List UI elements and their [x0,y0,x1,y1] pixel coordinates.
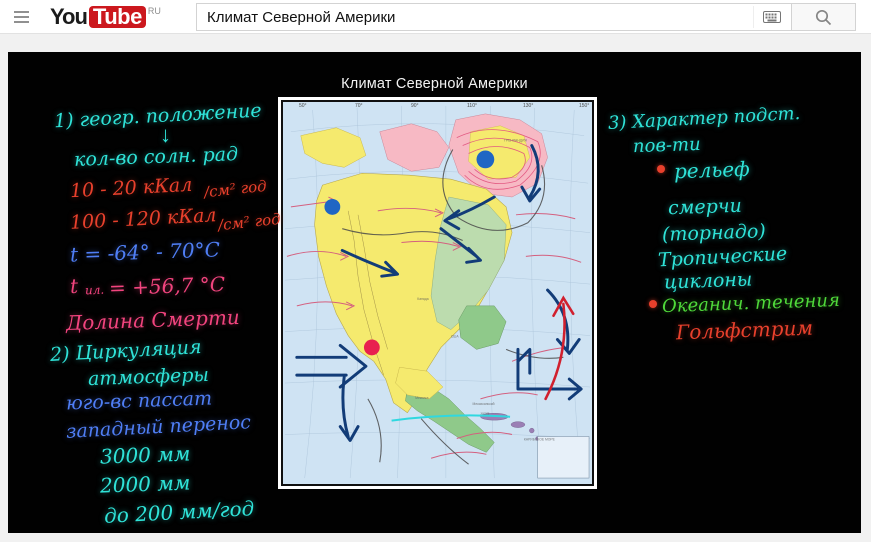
handwritten-note-left: t [70,276,79,297]
handwritten-note-right: смерчи [668,197,743,220]
keyboard-icon[interactable] [753,6,789,28]
handwritten-note-left: кол-во солн. рад [74,145,239,171]
handwritten-note-left: 10 - 20 кКал [70,176,193,202]
north-america-climate-map[interactable]: Канада США Мексика Мексиканский залив КА… [281,100,594,486]
youtube-logo[interactable]: You Tube RU [50,6,161,28]
search-button[interactable] [792,3,856,31]
search-area [196,3,856,31]
handwritten-note-left: Долина Смерти [66,307,240,334]
logo-region-text: RU [148,6,161,17]
search-input-wrapper[interactable] [196,3,792,31]
hamburger-icon[interactable] [4,0,38,34]
hamburger-bar [14,21,29,23]
keyboard-glyph [763,11,781,23]
toponym: Канада [417,297,428,301]
handwritten-note-left: 1) геогр. положение [54,102,262,133]
map-graphic: Канада США Мексика Мексиканский залив КА… [283,102,592,484]
video-title: Климат Северной Америки [8,76,861,92]
handwritten-note-left: 2) Циркуляция [50,338,202,366]
toponym: залив [480,412,489,416]
toponym: Мексиканский [473,402,495,406]
search-icon [815,9,832,26]
video-player-stage[interactable]: Климат Северной Америки 1) геогр. положе… [8,52,861,533]
browser-header: You Tube RU [0,0,871,34]
handwritten-note-left: 2000 мм [100,472,191,496]
handwritten-note-right: Океанич. течения [662,292,840,317]
handwritten-note-left: /см² год [203,179,267,201]
blue-dot-alaska[interactable] [324,199,340,215]
handwritten-note-left: юго-вс пассат [66,389,213,414]
red-dot-death-valley[interactable] [364,340,380,356]
map-degree-label: 110° [467,103,477,109]
logo-you-text: You [50,6,87,28]
handwritten-note-left: t = -64° - 70°C [70,239,221,265]
handwritten-note-right: 3) Характер подст. [608,105,801,134]
blue-dot-greenland[interactable] [476,150,494,168]
handwritten-note-left: ил. [85,284,105,297]
map-degree-label: 50° [299,103,307,109]
note-bullet-dot [657,165,665,173]
handwritten-note-right: (торнадо) [662,222,766,246]
handwritten-note-left: до 200 мм/год [104,498,255,527]
hamburger-bar [14,16,29,18]
handwritten-note-left: 100 - 120 кКал [70,206,217,234]
hamburger-bar [14,11,29,13]
toponym: США [451,335,459,339]
logo-tube-text: Tube [89,6,146,28]
handwritten-note-left: = +56,7 °C [109,274,226,299]
search-input[interactable] [197,4,791,30]
toponym: Мексика [415,396,428,400]
handwritten-note-right: пов-ти [633,136,701,157]
handwritten-note-right: Тропические [658,245,788,272]
map-frame: Канада США Мексика Мексиканский залив КА… [278,97,597,489]
map-inset-box [538,436,589,478]
down-arrow-icon: ↓ [160,122,171,148]
toponym: КАРИБСКОЕ МОРЕ [524,437,556,441]
note-bullet-dot [649,300,657,308]
handwritten-note-left: /см² год [217,212,281,234]
map-degree-label: 90° [411,103,419,109]
handwritten-note-left: западный перенос [66,413,252,443]
toponym: ГРЕНЛАНДИЯ [504,139,527,143]
handwritten-note-left: атмосферы [88,366,210,390]
handwritten-note-left: 3000 мм [100,443,191,467]
handwritten-note-right: Гольфстрим [676,318,814,344]
map-degree-label: 130° [523,103,533,109]
handwritten-note-right: рельеф [674,159,750,183]
map-degree-label: 150° [579,103,589,109]
handwritten-note-right: циклоны [664,270,753,293]
map-degree-label: 70° [355,103,363,109]
